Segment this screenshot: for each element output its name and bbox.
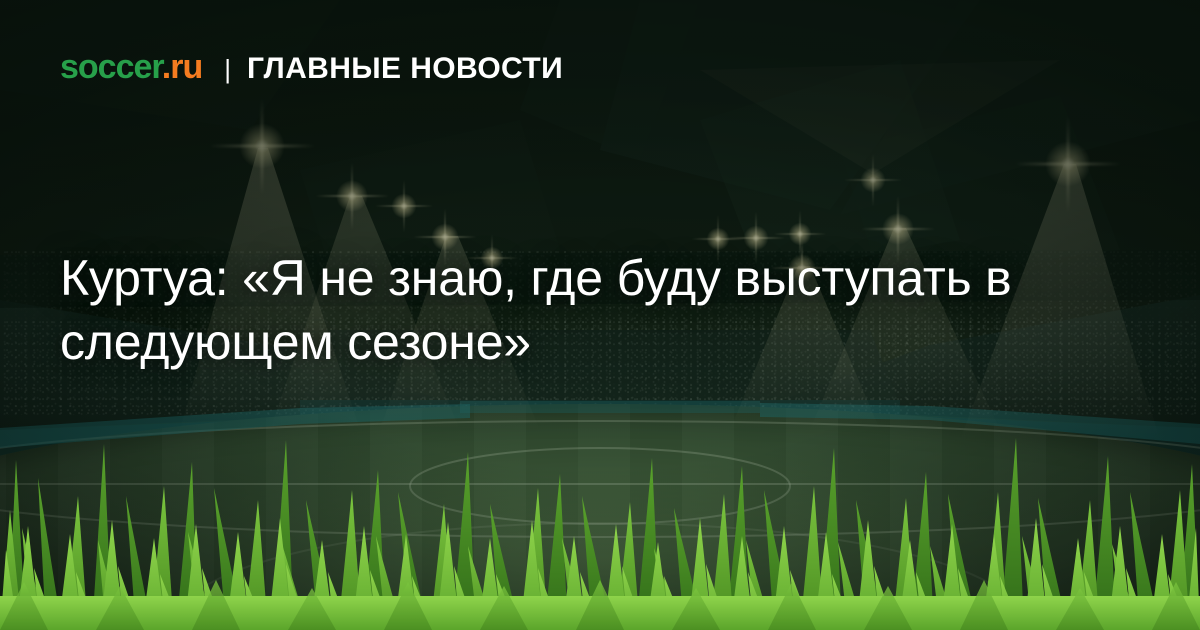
header-separator: | [224,56,231,82]
soccer-ru-logo[interactable]: soccer.ru [60,50,202,84]
news-share-card: soccer.ru | ГЛАВНЫЕ НОВОСТИ Куртуа: «Я н… [0,0,1200,630]
logo-suffix-text: .ru [162,48,202,86]
article-headline: Куртуа: «Я не знаю, где буду выступать в… [60,246,1060,374]
header-kicker-label: ГЛАВНЫЕ НОВОСТИ [247,54,563,84]
foreground-grass [0,400,1200,630]
logo-primary-text: soccer [60,48,162,86]
site-header: soccer.ru | ГЛАВНЫЕ НОВОСТИ [60,50,563,84]
